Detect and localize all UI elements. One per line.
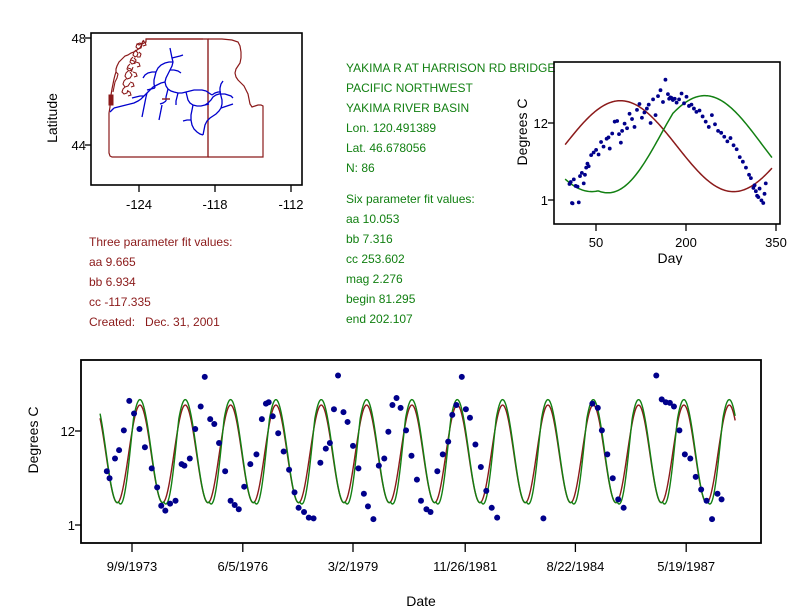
seasonal-ylabel: Degrees C xyxy=(514,99,530,166)
data-point xyxy=(428,509,434,515)
data-point xyxy=(643,111,647,115)
data-point xyxy=(270,413,276,419)
data-point xyxy=(647,103,651,107)
data-point xyxy=(259,416,265,422)
data-point xyxy=(725,139,729,143)
timeseries-svg: Degrees C 12 1 9/9/19736/5/19763/2/19791… xyxy=(0,340,792,611)
data-point xyxy=(677,97,681,101)
data-point xyxy=(327,440,333,446)
data-point xyxy=(418,498,424,504)
data-point xyxy=(236,506,242,512)
data-point xyxy=(449,412,455,418)
data-point xyxy=(710,113,714,117)
data-point xyxy=(361,491,367,497)
timeseries-ytick-1: 1 xyxy=(68,518,75,533)
data-point xyxy=(690,103,694,107)
data-point xyxy=(735,147,739,151)
six-param-mag: mag 2.276 xyxy=(346,269,546,289)
data-point xyxy=(572,178,576,182)
data-point xyxy=(355,465,361,471)
data-point xyxy=(275,430,281,436)
data-point xyxy=(633,125,637,129)
data-point xyxy=(198,403,204,409)
data-point xyxy=(673,97,677,101)
data-point xyxy=(610,132,614,136)
data-point xyxy=(104,468,110,474)
data-point xyxy=(577,200,581,204)
data-point xyxy=(142,444,148,450)
data-point xyxy=(682,451,688,457)
data-point xyxy=(685,95,689,99)
data-point xyxy=(587,164,591,168)
seasonal-data-points xyxy=(568,78,768,205)
data-point xyxy=(756,195,760,199)
data-point xyxy=(649,121,653,125)
data-point xyxy=(211,421,217,427)
timeseries-xtick-label: 5/19/1987 xyxy=(657,559,715,574)
data-point xyxy=(489,505,495,511)
data-point xyxy=(704,120,708,124)
data-point xyxy=(483,488,489,494)
data-point xyxy=(753,183,757,187)
data-point xyxy=(331,406,337,412)
data-point xyxy=(651,97,655,101)
data-point xyxy=(414,477,420,483)
data-point xyxy=(692,107,696,111)
data-point xyxy=(136,426,142,432)
data-point xyxy=(403,427,409,433)
data-point xyxy=(729,136,733,140)
data-point xyxy=(595,405,601,411)
data-point xyxy=(594,148,598,152)
three-param-bb: bb 6.934 xyxy=(89,272,329,292)
data-point xyxy=(599,140,603,144)
data-point xyxy=(463,406,469,412)
data-point xyxy=(167,501,173,507)
three-param-fit-curve xyxy=(100,405,735,503)
map-frame xyxy=(91,33,302,185)
data-point xyxy=(181,463,187,469)
data-point xyxy=(714,491,720,497)
data-point xyxy=(323,446,329,452)
data-point xyxy=(389,402,395,408)
data-point xyxy=(459,374,465,380)
data-point xyxy=(630,117,634,121)
three-param-cc: cc -117.335 xyxy=(89,292,329,312)
data-point xyxy=(638,102,642,106)
data-point xyxy=(680,92,684,96)
data-point xyxy=(207,416,213,422)
data-point xyxy=(640,116,644,120)
data-point xyxy=(687,456,693,462)
data-point xyxy=(676,427,682,433)
data-point xyxy=(292,489,298,495)
data-point xyxy=(365,503,371,509)
map-ylabel: Latitude xyxy=(44,93,60,143)
data-point xyxy=(266,399,272,405)
data-point xyxy=(659,88,663,92)
timeseries-ylabel: Degrees C xyxy=(25,407,41,474)
seasonal-ytick-12: 12 xyxy=(534,116,548,131)
six-param-begin: begin 81.295 xyxy=(346,289,546,309)
data-point xyxy=(671,403,677,409)
data-point xyxy=(589,401,595,407)
timeseries-data-points xyxy=(104,372,725,522)
data-point xyxy=(741,160,745,164)
three-param-block: Three parameter fit values: aa 9.665 bb … xyxy=(89,232,329,332)
data-point xyxy=(116,447,122,453)
data-point xyxy=(604,451,610,457)
data-point xyxy=(578,174,582,178)
data-point xyxy=(698,109,702,113)
data-point xyxy=(664,78,668,82)
data-point xyxy=(192,426,198,432)
data-point xyxy=(571,201,575,205)
data-point xyxy=(222,468,228,474)
data-point xyxy=(317,460,323,466)
data-point xyxy=(628,112,632,116)
data-point xyxy=(453,402,459,408)
seasonal-svg: Degrees C 12 1 50 200 350 Day xyxy=(500,50,792,265)
data-point xyxy=(758,187,762,191)
data-point xyxy=(345,419,351,425)
data-point xyxy=(158,503,164,509)
created-date: Created: Dec. 31, 2001 xyxy=(89,312,329,332)
data-point xyxy=(693,474,699,480)
map-svg: Latitude 48 44 -124 -118 -112 xyxy=(0,0,320,230)
data-point xyxy=(761,201,765,205)
data-point xyxy=(602,145,606,149)
data-point xyxy=(698,487,704,493)
data-point xyxy=(149,465,155,471)
data-point xyxy=(385,429,391,435)
data-point xyxy=(709,516,715,522)
data-point xyxy=(719,131,723,135)
data-point xyxy=(472,441,478,447)
data-point xyxy=(162,508,168,514)
seasonal-ytick-1: 1 xyxy=(541,193,548,208)
data-point xyxy=(704,498,710,504)
data-point xyxy=(569,180,573,184)
seasonal-xlabel: Day xyxy=(658,250,683,265)
data-point xyxy=(654,113,658,117)
timeseries-xtick-label: 8/22/1984 xyxy=(546,559,604,574)
data-point xyxy=(576,185,580,189)
data-point xyxy=(656,94,660,98)
map-xtick-112: -112 xyxy=(278,197,303,212)
data-point xyxy=(154,484,160,490)
data-point xyxy=(666,92,670,96)
data-point xyxy=(645,107,649,111)
data-point xyxy=(635,108,639,112)
data-point xyxy=(540,515,546,521)
data-point xyxy=(610,475,616,481)
seasonal-panel: Degrees C 12 1 50 200 350 Day xyxy=(500,50,792,265)
data-point xyxy=(281,449,287,455)
timeseries-panel: Degrees C 12 1 9/9/19736/5/19763/2/19791… xyxy=(0,340,792,611)
data-point xyxy=(311,515,317,521)
data-point xyxy=(301,509,307,515)
timeseries-xticks: 9/9/19736/5/19763/2/197911/26/19818/22/1… xyxy=(107,543,715,574)
data-point xyxy=(722,135,726,139)
data-point xyxy=(713,122,717,126)
data-point xyxy=(445,439,451,445)
data-point xyxy=(719,496,725,502)
data-point xyxy=(754,189,758,193)
data-point xyxy=(675,101,679,105)
data-point xyxy=(653,372,659,378)
seasonal-fit-curves xyxy=(565,96,772,193)
data-point xyxy=(617,132,621,136)
data-point xyxy=(738,155,742,159)
timeseries-xtick-label: 9/9/1973 xyxy=(107,559,158,574)
data-point xyxy=(187,456,193,462)
data-point xyxy=(583,173,587,177)
data-point xyxy=(370,516,376,522)
data-point xyxy=(434,468,440,474)
timeseries-xtick-label: 11/26/1981 xyxy=(433,559,497,574)
data-point xyxy=(623,122,627,126)
seasonal-xtick-200: 200 xyxy=(675,235,697,250)
data-point xyxy=(131,410,137,416)
data-point xyxy=(621,505,627,511)
data-point xyxy=(398,405,404,411)
map-xtick-118: -118 xyxy=(202,197,227,212)
data-point xyxy=(350,443,356,449)
map-panel: Latitude 48 44 -124 -118 -112 xyxy=(0,0,320,230)
data-point xyxy=(608,147,612,151)
data-point xyxy=(286,467,292,473)
timeseries-fit-curves xyxy=(100,400,735,504)
data-point xyxy=(619,141,623,145)
data-point xyxy=(121,427,127,433)
data-point xyxy=(126,398,132,404)
timeseries-frame xyxy=(81,360,761,543)
data-point xyxy=(247,461,253,467)
data-point xyxy=(202,374,208,380)
data-point xyxy=(107,475,113,481)
data-point xyxy=(764,181,768,185)
data-point xyxy=(296,505,302,511)
data-point xyxy=(615,119,619,123)
three-param-fit-curve xyxy=(565,101,772,192)
data-point xyxy=(340,409,346,415)
six-param-end: end 202.107 xyxy=(346,309,546,329)
data-point xyxy=(582,181,586,185)
seasonal-frame xyxy=(554,62,780,224)
map-xtick-124: -124 xyxy=(126,197,152,212)
data-point xyxy=(173,498,179,504)
data-point xyxy=(494,515,500,521)
data-point xyxy=(381,456,387,462)
map-ytick-44: 44 xyxy=(72,138,86,153)
data-point xyxy=(241,484,247,490)
data-point xyxy=(599,427,605,433)
seasonal-xtick-350: 350 xyxy=(765,235,787,250)
data-point xyxy=(607,136,611,140)
timeseries-xtick-label: 6/5/1976 xyxy=(217,559,268,574)
data-point xyxy=(253,451,259,457)
data-point xyxy=(216,440,222,446)
data-point xyxy=(749,176,753,180)
data-point xyxy=(747,173,751,177)
data-point xyxy=(408,453,414,459)
data-point xyxy=(763,192,767,196)
timeseries-xlabel: Date xyxy=(406,593,436,609)
data-point xyxy=(625,126,629,130)
three-param-header: Three parameter fit values: xyxy=(89,232,329,252)
data-point xyxy=(615,496,621,502)
data-point xyxy=(467,415,473,421)
data-point xyxy=(661,100,665,104)
three-param-aa: aa 9.665 xyxy=(89,252,329,272)
data-point xyxy=(112,456,118,462)
six-param-fit-curve xyxy=(100,400,735,504)
data-point xyxy=(335,372,341,378)
data-point xyxy=(394,395,400,401)
data-point xyxy=(744,166,748,170)
data-point xyxy=(376,463,382,469)
timeseries-ytick-12: 12 xyxy=(61,424,75,439)
seasonal-xtick-50: 50 xyxy=(589,235,603,250)
data-point xyxy=(620,129,624,133)
map-ytick-48: 48 xyxy=(72,31,86,46)
timeseries-xtick-label: 3/2/1979 xyxy=(328,559,379,574)
data-point xyxy=(478,464,484,470)
data-point xyxy=(732,143,736,147)
data-point xyxy=(701,115,705,119)
data-point xyxy=(440,451,446,457)
data-point xyxy=(707,125,711,129)
data-point xyxy=(597,153,601,157)
data-point xyxy=(682,101,686,105)
